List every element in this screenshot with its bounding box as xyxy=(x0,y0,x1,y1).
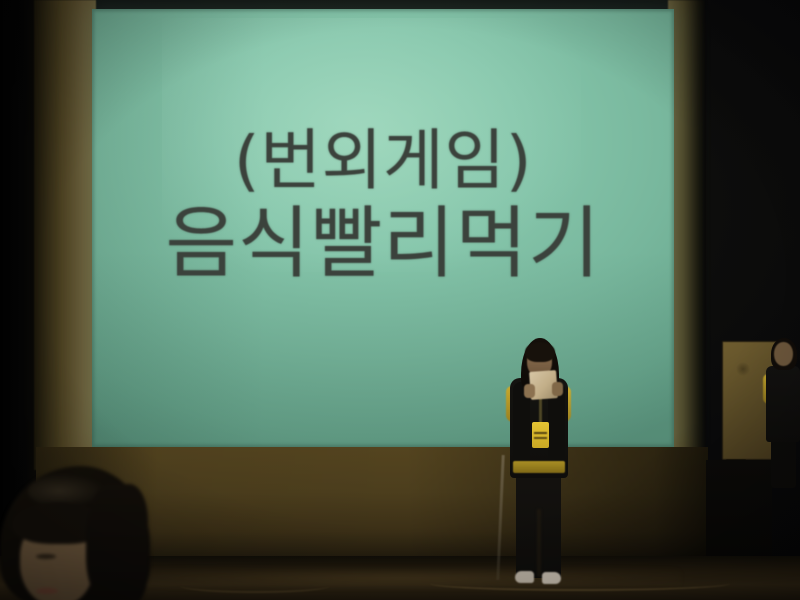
presenter-vest-hem xyxy=(513,461,565,473)
audience-lips xyxy=(36,588,58,594)
assistant-torso xyxy=(766,366,800,442)
presenter-leg-gap xyxy=(537,509,541,577)
audience-hair-right-side xyxy=(86,484,148,600)
whiteboard-marking xyxy=(736,362,750,376)
presenter-hand-right xyxy=(552,382,563,396)
projection-screen xyxy=(92,9,674,447)
audience-eye xyxy=(36,554,56,559)
presenter-hand-left xyxy=(524,384,535,398)
presenter-shoe-right xyxy=(542,572,561,584)
assistant-head xyxy=(774,342,793,366)
presenter-shoe-left xyxy=(515,571,534,583)
screen-vignette xyxy=(92,9,674,447)
audience-member-foreground xyxy=(0,466,156,600)
screen-edge xyxy=(92,9,674,447)
presenter-figure xyxy=(494,334,586,592)
presenter-badge-text-lines xyxy=(534,432,547,443)
wall-strip-left xyxy=(34,0,96,470)
assistant-legs xyxy=(771,438,796,488)
projector-hotspot xyxy=(162,18,581,272)
photo-scene: (번외게임) 음식빨리먹기 xyxy=(0,0,800,600)
presenter-hair-fringe xyxy=(525,342,555,362)
presenter-lanyard xyxy=(539,396,542,424)
assistant-figure xyxy=(760,338,800,488)
